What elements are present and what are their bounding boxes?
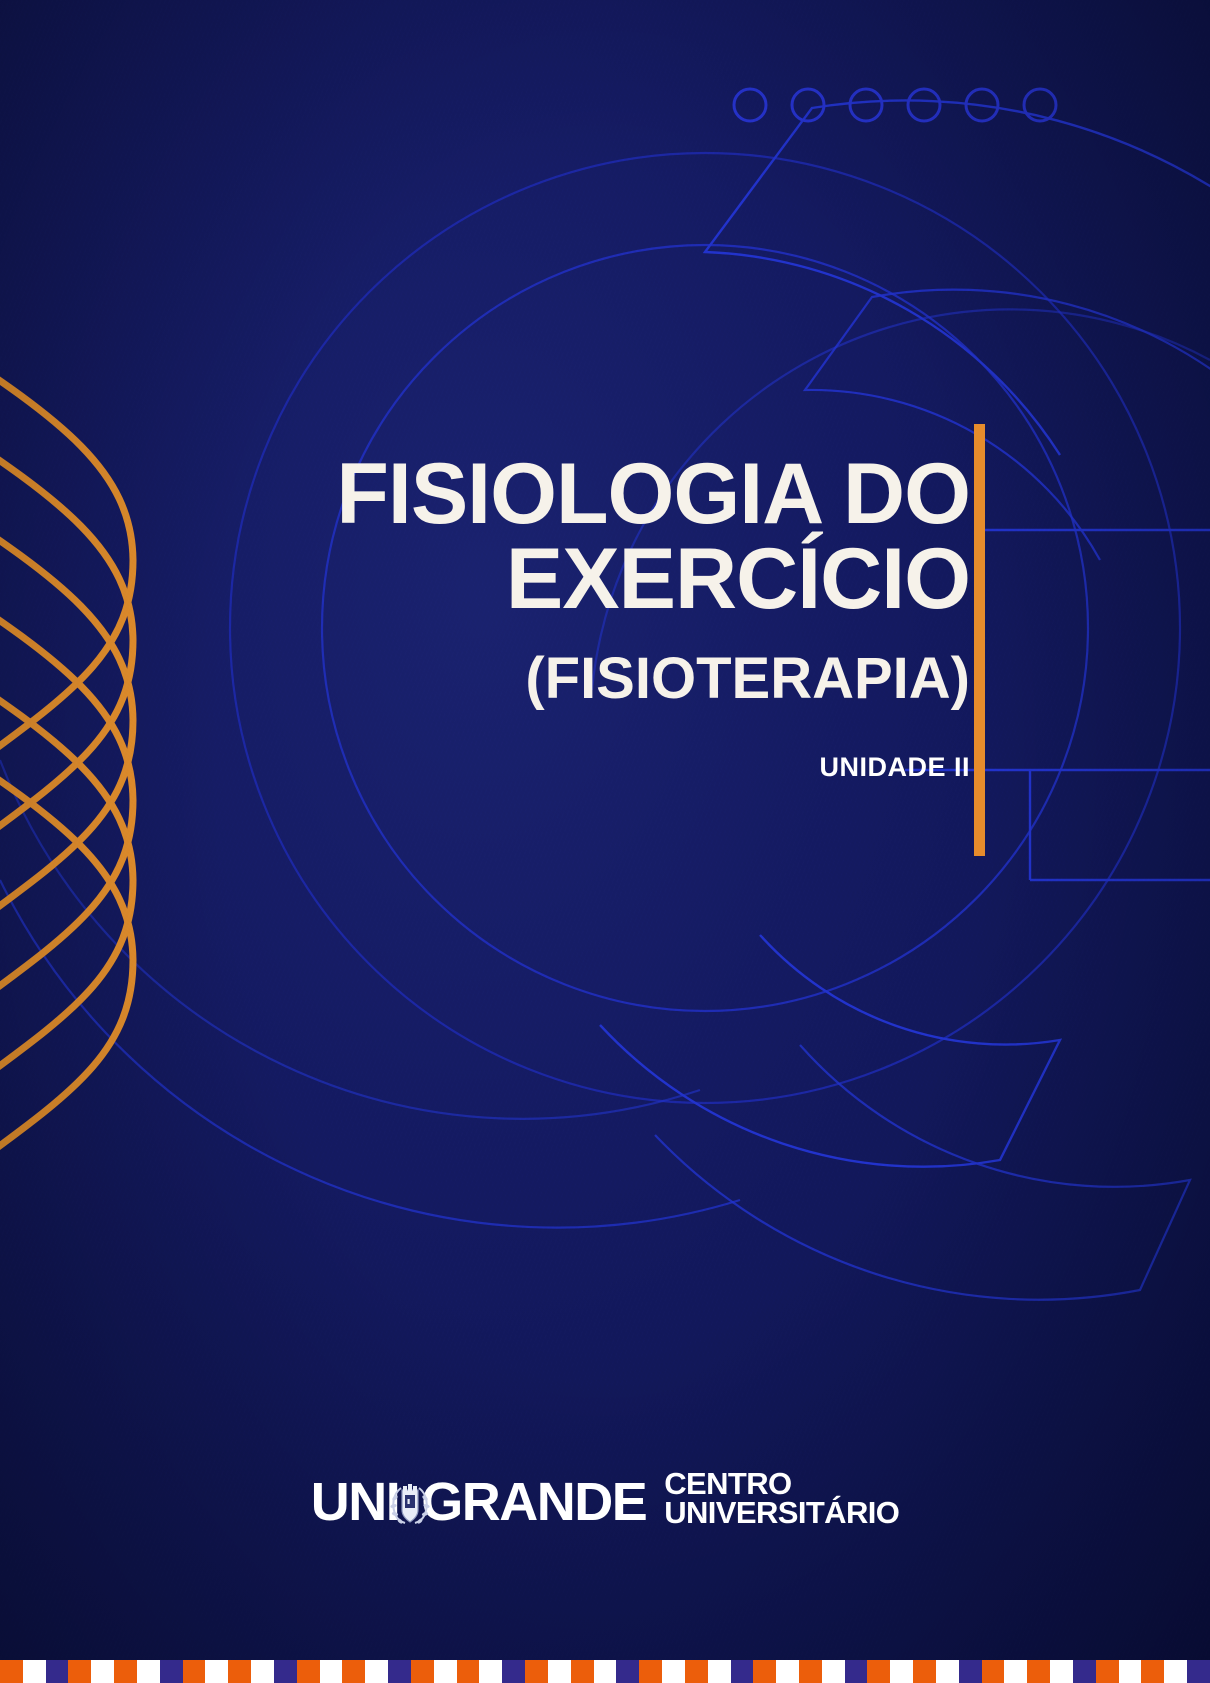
footer-pattern-square xyxy=(23,1660,46,1683)
logo-tagline-line2: UNIVERSITÁRIO xyxy=(664,1499,899,1528)
footer-pattern-square xyxy=(479,1660,502,1683)
footer-pattern-square xyxy=(251,1660,274,1683)
footer-pattern-square xyxy=(342,1660,365,1683)
paper-texture xyxy=(0,0,1210,1683)
unit-label: UNIDADE II xyxy=(0,752,970,783)
footer-pattern-square xyxy=(594,1660,617,1683)
footer-pattern-square xyxy=(388,1660,411,1683)
footer-pattern-square xyxy=(320,1660,343,1683)
coat-of-arms-icon xyxy=(387,1476,433,1528)
page-title-line1: FISIOLOGIA DO xyxy=(0,452,970,537)
footer-pattern-square xyxy=(91,1660,114,1683)
footer-pattern-square xyxy=(1119,1660,1142,1683)
title-block: FISIOLOGIA DO EXERCÍCIO (FISIOTERAPIA) U… xyxy=(0,452,970,783)
footer-pattern-square xyxy=(205,1660,228,1683)
footer-pattern-square xyxy=(297,1660,320,1683)
page-subtitle: (FISIOTERAPIA) xyxy=(0,650,970,708)
orange-vertical-rule-icon xyxy=(974,424,985,856)
footer-pattern-square xyxy=(1096,1660,1119,1683)
footer-pattern-square xyxy=(1187,1660,1210,1683)
footer-pattern-square xyxy=(365,1660,388,1683)
footer-pattern-square xyxy=(982,1660,1005,1683)
footer-pattern-square xyxy=(867,1660,890,1683)
footer-pattern-strip xyxy=(0,1660,1210,1683)
footer-pattern-square xyxy=(731,1660,754,1683)
footer-pattern-square xyxy=(160,1660,183,1683)
page-title-line2: EXERCÍCIO xyxy=(0,537,970,622)
top-dots-decoration xyxy=(0,0,1210,1683)
institution-logo: UNI xyxy=(0,1470,1210,1529)
logo-wordmark: UNI xyxy=(311,1475,647,1529)
footer-pattern-square xyxy=(662,1660,685,1683)
footer-pattern-square xyxy=(776,1660,799,1683)
footer-pattern-square xyxy=(1027,1660,1050,1683)
footer-pattern-square xyxy=(822,1660,845,1683)
footer-pattern-square xyxy=(274,1660,297,1683)
left-lattice-decoration xyxy=(0,0,1210,1683)
footer-pattern-square xyxy=(913,1660,936,1683)
footer-pattern-square xyxy=(616,1660,639,1683)
footer-pattern-square xyxy=(1164,1660,1187,1683)
footer-pattern-square xyxy=(0,1660,23,1683)
logo-tagline: CENTRO UNIVERSITÁRIO xyxy=(664,1470,899,1527)
logo-word-grande: GRANDE xyxy=(421,1475,646,1529)
footer-pattern-square xyxy=(525,1660,548,1683)
footer-pattern-square xyxy=(936,1660,959,1683)
footer-pattern-square xyxy=(502,1660,525,1683)
footer-pattern-square xyxy=(1141,1660,1164,1683)
footer-pattern-square xyxy=(114,1660,137,1683)
footer-pattern-square xyxy=(571,1660,594,1683)
footer-pattern-square xyxy=(137,1660,160,1683)
footer-pattern-square xyxy=(457,1660,480,1683)
cover-page: FISIOLOGIA DO EXERCÍCIO (FISIOTERAPIA) U… xyxy=(0,0,1210,1683)
footer-pattern-square xyxy=(959,1660,982,1683)
footer-pattern-square xyxy=(228,1660,251,1683)
footer-pattern-square xyxy=(1004,1660,1027,1683)
footer-pattern-square xyxy=(753,1660,776,1683)
footer-pattern-square xyxy=(708,1660,731,1683)
logo-word-uni: UNI xyxy=(311,1475,400,1529)
footer-pattern-square xyxy=(183,1660,206,1683)
footer-pattern-square xyxy=(639,1660,662,1683)
footer-pattern-square xyxy=(434,1660,457,1683)
footer-pattern-square xyxy=(548,1660,571,1683)
footer-pattern-square xyxy=(68,1660,91,1683)
footer-pattern-square xyxy=(685,1660,708,1683)
footer-pattern-square xyxy=(799,1660,822,1683)
footer-pattern-square xyxy=(411,1660,434,1683)
vignette xyxy=(0,0,1210,1683)
footer-pattern-square xyxy=(1073,1660,1096,1683)
footer-pattern-square xyxy=(845,1660,868,1683)
footer-pattern-square xyxy=(890,1660,913,1683)
center-arcs-decoration xyxy=(0,0,1210,1683)
footer-pattern-square xyxy=(1050,1660,1073,1683)
footer-pattern-square xyxy=(46,1660,69,1683)
